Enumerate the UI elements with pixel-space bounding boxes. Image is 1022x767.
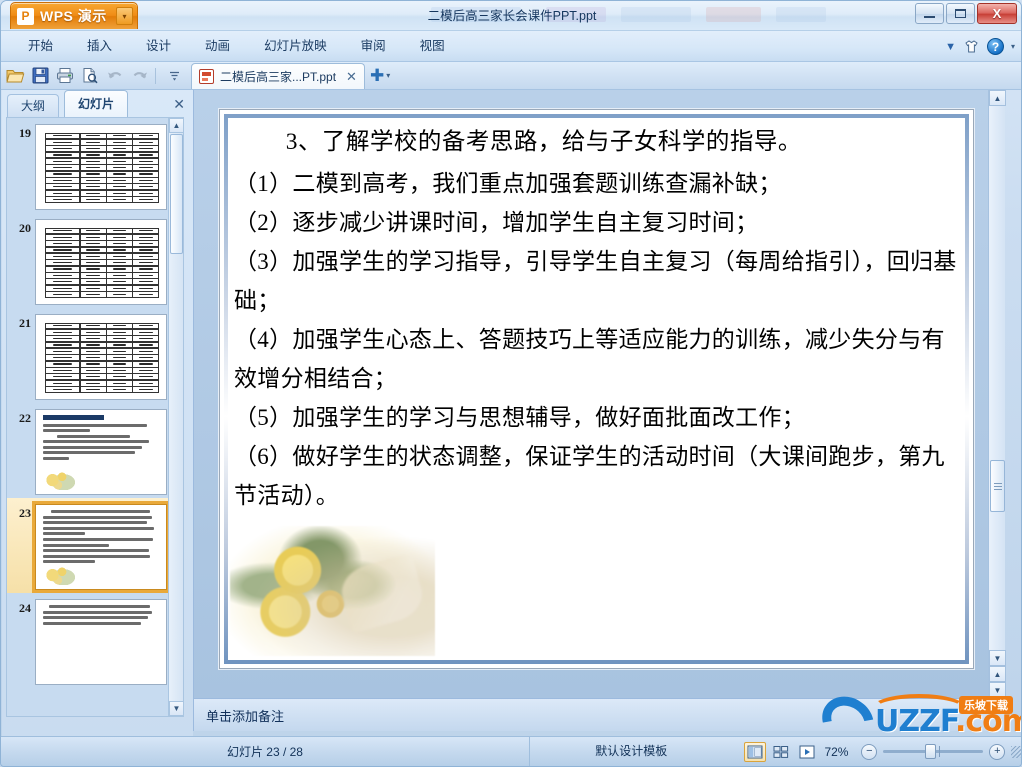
chevron-down-icon[interactable]: ▾ bbox=[386, 71, 390, 80]
tab-design[interactable]: 设计 bbox=[129, 31, 188, 62]
slide-line-4: （4）加强学生心态上、答题技巧上等适应能力的训练，减少失分与有效增分相结合； bbox=[234, 320, 959, 398]
table-preview bbox=[45, 323, 159, 393]
list-item[interactable]: 20 bbox=[7, 213, 183, 308]
view-buttons bbox=[744, 742, 818, 762]
panel-tabs: 大纲 幻灯片 ✕ bbox=[2, 90, 193, 117]
close-icon[interactable]: ✕ bbox=[346, 69, 357, 85]
slide-editing-area[interactable]: 3、了解学校的备考思路，给与子女科学的指导。 （1）二模到高考，我们重点加强套题… bbox=[193, 90, 1005, 698]
tab-insert[interactable]: 插入 bbox=[70, 31, 129, 62]
slide-thumbnail[interactable] bbox=[35, 124, 167, 210]
slide-number: 24 bbox=[9, 599, 31, 616]
slide-heading: 3、了解学校的备考思路，给与子女科学的指导。 bbox=[234, 122, 959, 162]
scrollbar-thumb[interactable] bbox=[170, 134, 183, 254]
slide-line-2: （2）逐步减少讲课时间，增加学生自主复习时间； bbox=[234, 203, 959, 242]
tab-animation[interactable]: 动画 bbox=[188, 31, 247, 62]
skin-icon[interactable] bbox=[963, 39, 980, 55]
zoom-slider[interactable]: − + bbox=[861, 744, 1005, 760]
open-folder-icon[interactable] bbox=[4, 65, 26, 87]
window-controls: X bbox=[915, 3, 1017, 24]
slide-thumbnail[interactable] bbox=[35, 599, 167, 685]
ribbon-right-icons: ▼ ? ▾ bbox=[945, 31, 1015, 62]
help-icon[interactable]: ? bbox=[987, 38, 1004, 55]
view-normal-button[interactable] bbox=[744, 742, 766, 762]
undo-button[interactable] bbox=[104, 65, 126, 87]
scroll-up-button[interactable]: ▲ bbox=[169, 118, 184, 133]
scroll-down-button[interactable]: ▼ bbox=[169, 701, 184, 716]
slide-number: 19 bbox=[9, 124, 31, 141]
slide-line-6: （6）做好学生的状态调整，保证学生的活动时间（大课间跑步，第九节活动）。 bbox=[234, 437, 959, 515]
chevron-down-icon[interactable]: ▾ bbox=[116, 7, 133, 25]
help-dropdown-caret[interactable]: ▾ bbox=[1011, 42, 1015, 51]
view-slide-sorter-button[interactable] bbox=[770, 742, 792, 762]
document-tab[interactable]: 二模后高三家...PT.ppt ✕ bbox=[191, 63, 365, 89]
tab-review[interactable]: 审阅 bbox=[344, 31, 403, 62]
zoom-out-button[interactable]: − bbox=[861, 744, 877, 760]
list-item[interactable]: 24 bbox=[7, 593, 183, 688]
current-slide[interactable]: 3、了解学校的备考思路，给与子女科学的指导。 （1）二模到高考，我们重点加强套题… bbox=[219, 109, 974, 669]
zoom-level: 72% bbox=[824, 745, 857, 759]
scrollbar-thumb[interactable] bbox=[990, 460, 1005, 512]
yellow-roses-decoration bbox=[230, 526, 435, 656]
previous-slide-button[interactable]: ▲ bbox=[989, 666, 1006, 682]
ribbon-tab-bar: 开始 插入 设计 动画 幻灯片放映 审阅 视图 ▼ ? ▾ bbox=[1, 31, 1022, 62]
toolbar-separator bbox=[155, 68, 156, 84]
ppt-file-icon bbox=[199, 69, 214, 84]
title-bar: 二模后高三家长会课件PPT.ppt P WPS 演示 ▾ X bbox=[1, 1, 1022, 31]
view-slideshow-button[interactable] bbox=[796, 742, 818, 762]
list-item[interactable]: 21 bbox=[7, 308, 183, 403]
slides-panel: 大纲 幻灯片 ✕ 19 bbox=[2, 90, 193, 738]
flower-decoration-icon bbox=[43, 468, 77, 490]
close-panel-icon[interactable]: ✕ bbox=[173, 96, 185, 113]
list-item[interactable]: 23 bbox=[7, 498, 183, 593]
customize-toolbar-button[interactable] bbox=[163, 65, 185, 87]
printer-icon[interactable] bbox=[54, 65, 76, 87]
scroll-down-button[interactable]: ▼ bbox=[989, 650, 1006, 666]
ribbon-tabs: 开始 插入 设计 动画 幻灯片放映 审阅 视图 bbox=[11, 31, 462, 62]
slide-number: 21 bbox=[9, 314, 31, 331]
tab-outline[interactable]: 大纲 bbox=[7, 94, 59, 117]
list-item[interactable]: 19 bbox=[7, 118, 183, 213]
flower-decoration-icon bbox=[43, 563, 77, 585]
zoom-knob[interactable] bbox=[925, 744, 936, 759]
slide-thumbnail-selected[interactable] bbox=[35, 504, 167, 590]
slide-number: 20 bbox=[9, 219, 31, 236]
zoom-in-button[interactable]: + bbox=[989, 744, 1005, 760]
quick-access-toolbar: 二模后高三家...PT.ppt ✕ ✚ ▾ bbox=[1, 62, 1022, 90]
add-icon[interactable]: ✚ bbox=[370, 67, 384, 84]
tab-slides[interactable]: 幻灯片 bbox=[64, 90, 128, 117]
tab-view[interactable]: 视图 bbox=[403, 31, 462, 62]
slide-counter: 幻灯片 23 / 28 bbox=[1, 743, 529, 760]
redo-button[interactable] bbox=[129, 65, 151, 87]
document-title: 二模后高三家长会课件PPT.ppt bbox=[1, 1, 1022, 31]
thumbnail-scrollbar[interactable]: ▲ ▼ bbox=[168, 118, 183, 716]
thumbnail-list[interactable]: 19 bbox=[6, 117, 184, 717]
wps-presentation-tab[interactable]: P WPS 演示 ▾ bbox=[10, 2, 138, 29]
list-item[interactable]: 22 bbox=[7, 403, 183, 498]
table-preview bbox=[45, 133, 159, 203]
template-name: 默认设计模板 bbox=[529, 737, 732, 766]
slide-text-body[interactable]: 3、了解学校的备考思路，给与子女科学的指导。 （1）二模到高考，我们重点加强套题… bbox=[234, 122, 959, 515]
wps-brand-label: WPS 演示 bbox=[40, 6, 107, 26]
slide-number: 23 bbox=[9, 504, 31, 521]
table-preview bbox=[45, 228, 159, 298]
wps-presentation-icon: P bbox=[17, 8, 34, 25]
maximize-button[interactable] bbox=[946, 3, 975, 24]
tab-slideshow[interactable]: 幻灯片放映 bbox=[247, 31, 344, 62]
zoom-track[interactable] bbox=[883, 750, 983, 753]
slide-thumbnail[interactable] bbox=[35, 219, 167, 305]
status-bar: 幻灯片 23 / 28 默认设计模板 bbox=[1, 736, 1022, 766]
notes-placeholder: 单击添加备注 bbox=[206, 706, 284, 725]
next-slide-button[interactable]: ▼ bbox=[989, 682, 1006, 698]
scroll-up-button[interactable]: ▲ bbox=[989, 90, 1006, 106]
tab-home[interactable]: 开始 bbox=[11, 31, 70, 62]
slide-line-3: （3）加强学生的学习指导，引导学生自主复习（每周给指引），回归基础； bbox=[234, 242, 959, 320]
document-tab-label: 二模后高三家...PT.ppt bbox=[220, 68, 336, 85]
close-button[interactable]: X bbox=[977, 3, 1017, 24]
slide-number: 22 bbox=[9, 409, 31, 426]
print-preview-icon[interactable] bbox=[79, 65, 101, 87]
application-window: 二模后高三家长会课件PPT.ppt P WPS 演示 ▾ X 开始 插入 设计 … bbox=[0, 0, 1022, 767]
notes-pane[interactable]: 单击添加备注 bbox=[193, 698, 1005, 731]
minimize-button[interactable] bbox=[915, 3, 944, 24]
text-preview bbox=[43, 510, 161, 566]
chevron-down-icon[interactable]: ▼ bbox=[945, 41, 956, 53]
window-resize-grip[interactable] bbox=[1011, 746, 1022, 758]
text-preview bbox=[43, 415, 161, 463]
slide-thumbnail[interactable] bbox=[35, 409, 167, 495]
zoom-default-tick bbox=[939, 746, 940, 757]
slide-scrollbar[interactable]: ▲ ▼ ▲ ▼ bbox=[988, 90, 1005, 698]
text-preview bbox=[43, 605, 161, 627]
floppy-disk-icon[interactable] bbox=[29, 65, 51, 87]
new-tab-group: ✚ ▾ bbox=[370, 64, 390, 88]
slide-line-5: （5）加强学生的学习与思想辅导，做好面批面改工作； bbox=[234, 398, 959, 437]
slide-thumbnail[interactable] bbox=[35, 314, 167, 400]
slide-line-1: （1）二模到高考，我们重点加强套题训练查漏补缺； bbox=[234, 164, 959, 203]
scrollbar-grip bbox=[994, 483, 1002, 490]
